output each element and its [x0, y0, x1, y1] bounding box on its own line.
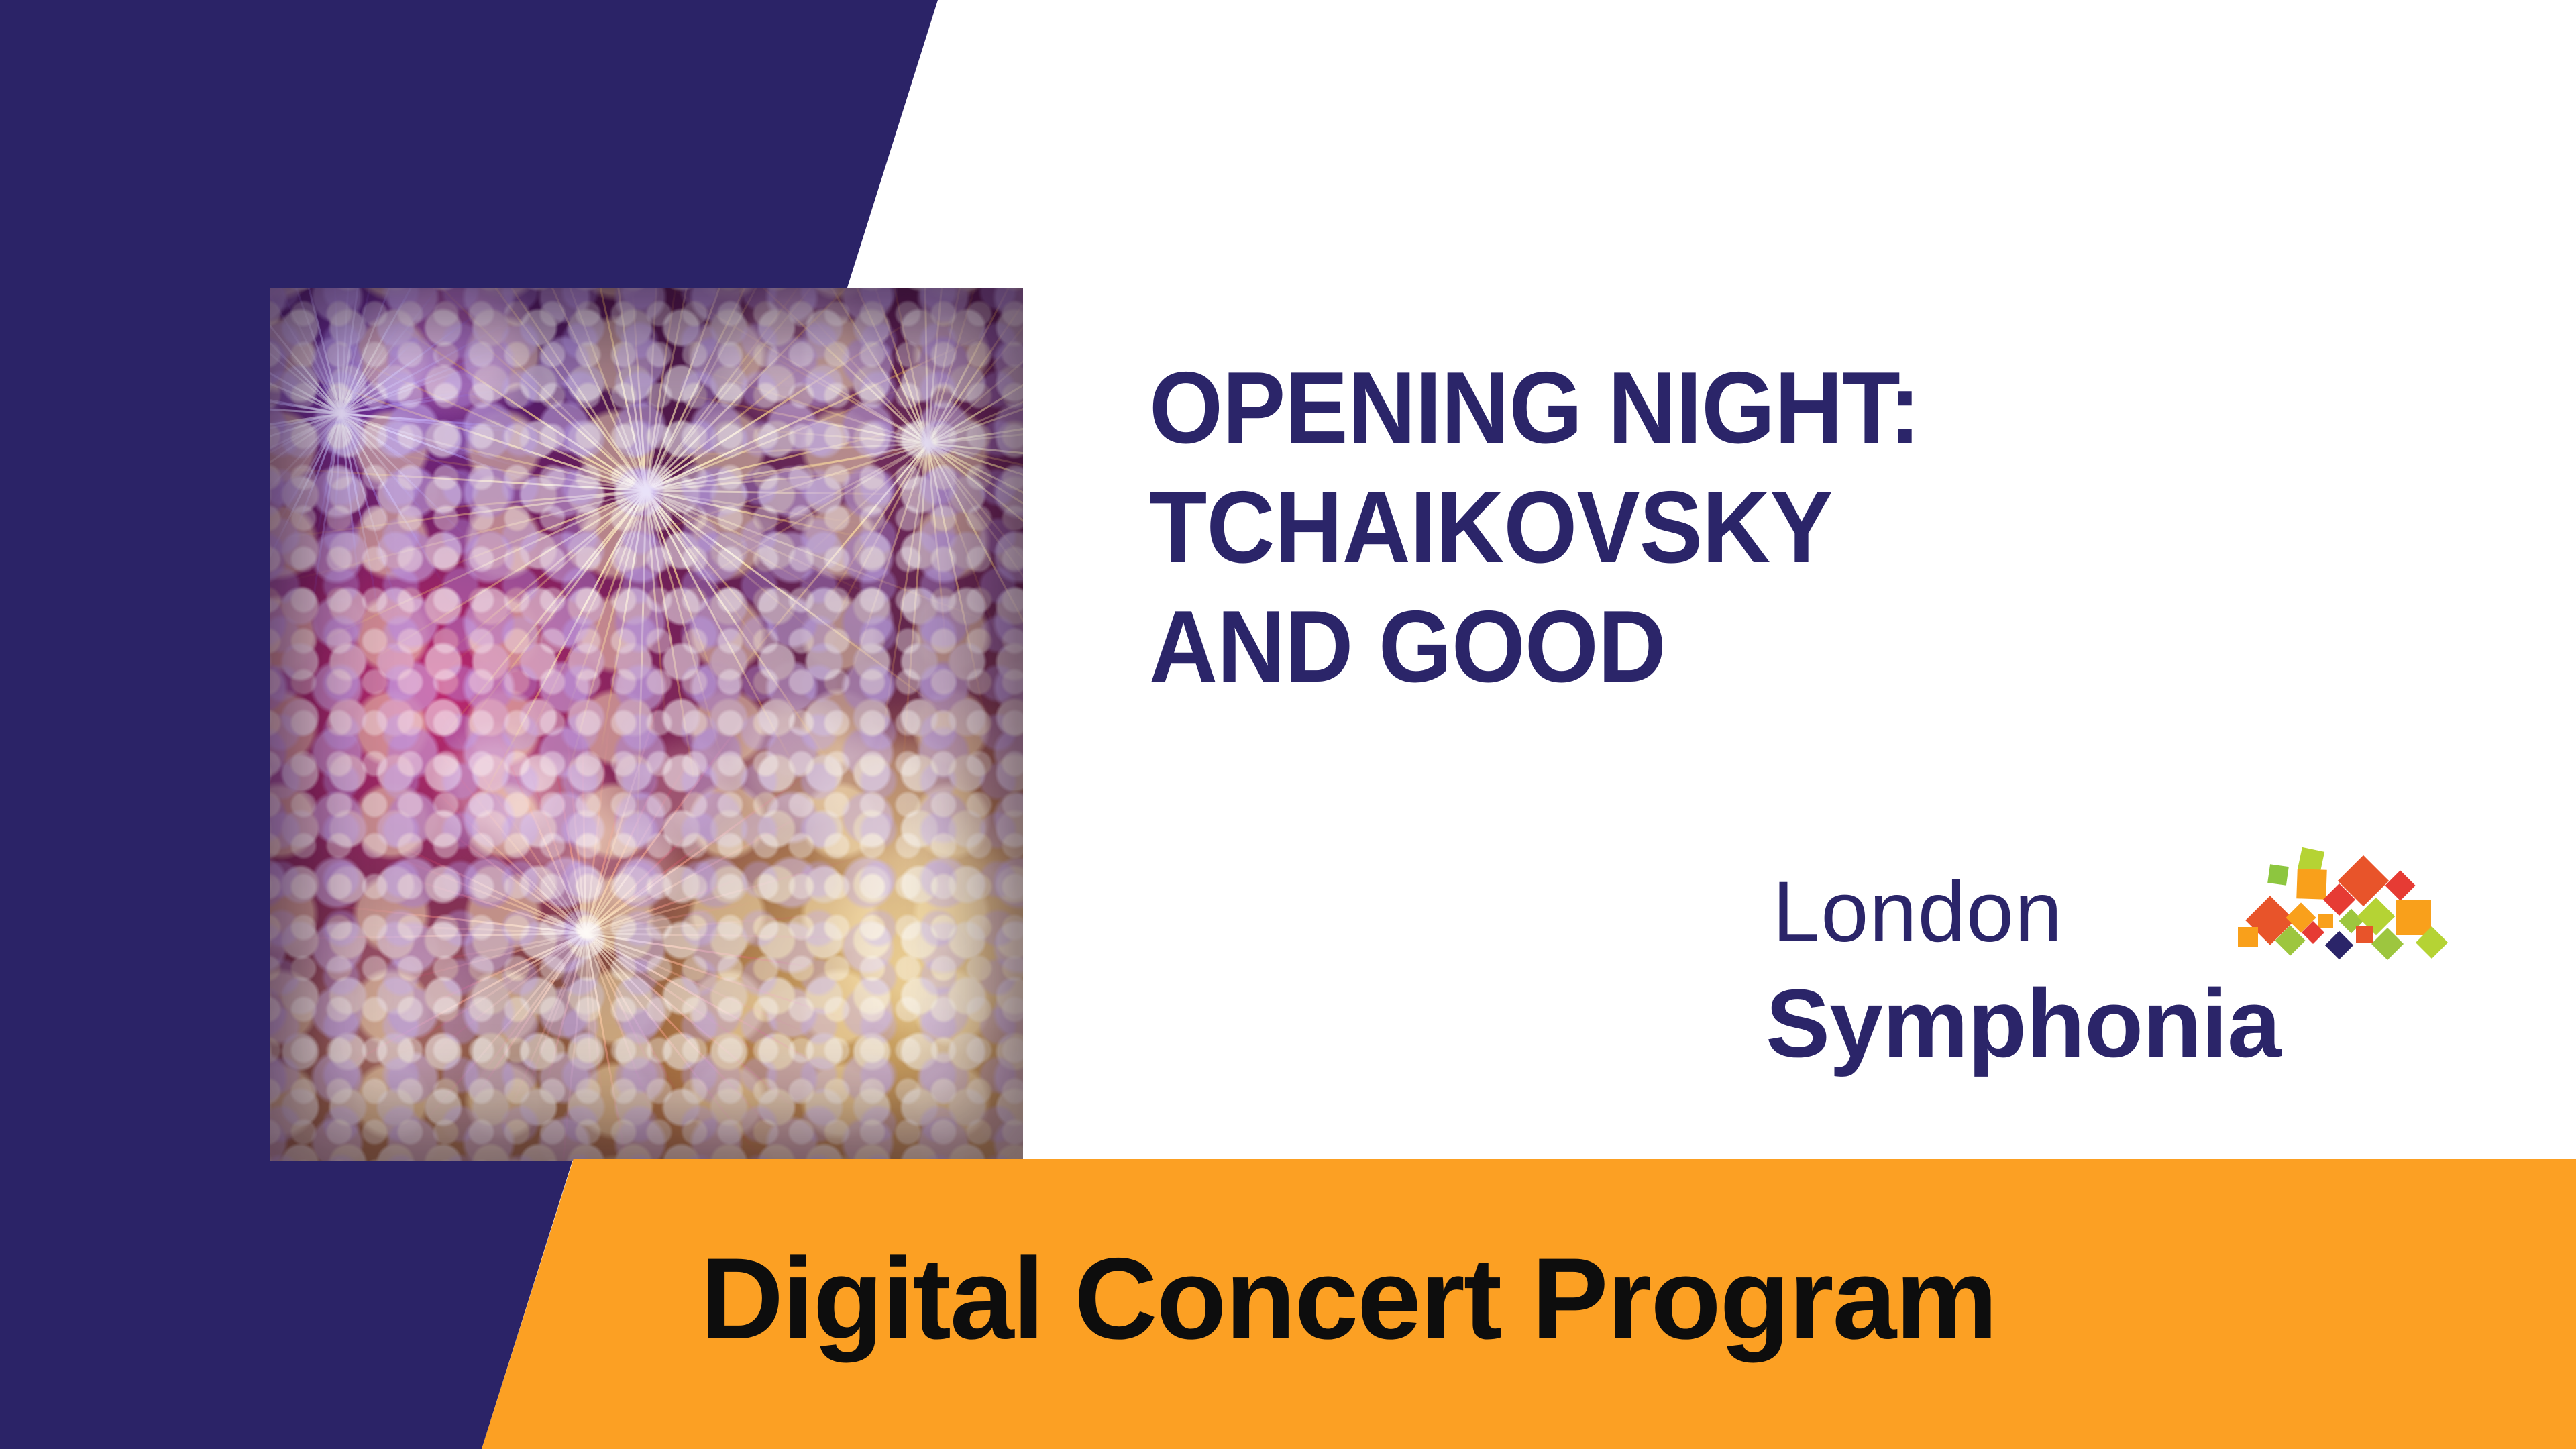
- fireworks-vignette: [270, 288, 1023, 1161]
- london-symphonia-logo: London Symphonia: [1768, 863, 2486, 1131]
- title-line-2: TCHAIKOVSKY: [1149, 468, 2366, 588]
- logo-wordmark-london: London: [1772, 869, 2063, 955]
- concert-program-slide: OPENING NIGHT: TCHAIKOVSKY AND GOOD Lond…: [0, 0, 2576, 1449]
- page-title: OPENING NIGHT: TCHAIKOVSKY AND GOOD: [1149, 349, 2366, 706]
- title-line-3: AND GOOD: [1149, 588, 2366, 707]
- fireworks-photo: [270, 288, 1023, 1161]
- confetti-burst-icon: [2238, 848, 2493, 1063]
- title-line-1: OPENING NIGHT:: [1149, 349, 2366, 468]
- logo-wordmark-symphonia: Symphonia: [1766, 975, 2280, 1072]
- banner-label: Digital Concert Program: [0, 1241, 2576, 1356]
